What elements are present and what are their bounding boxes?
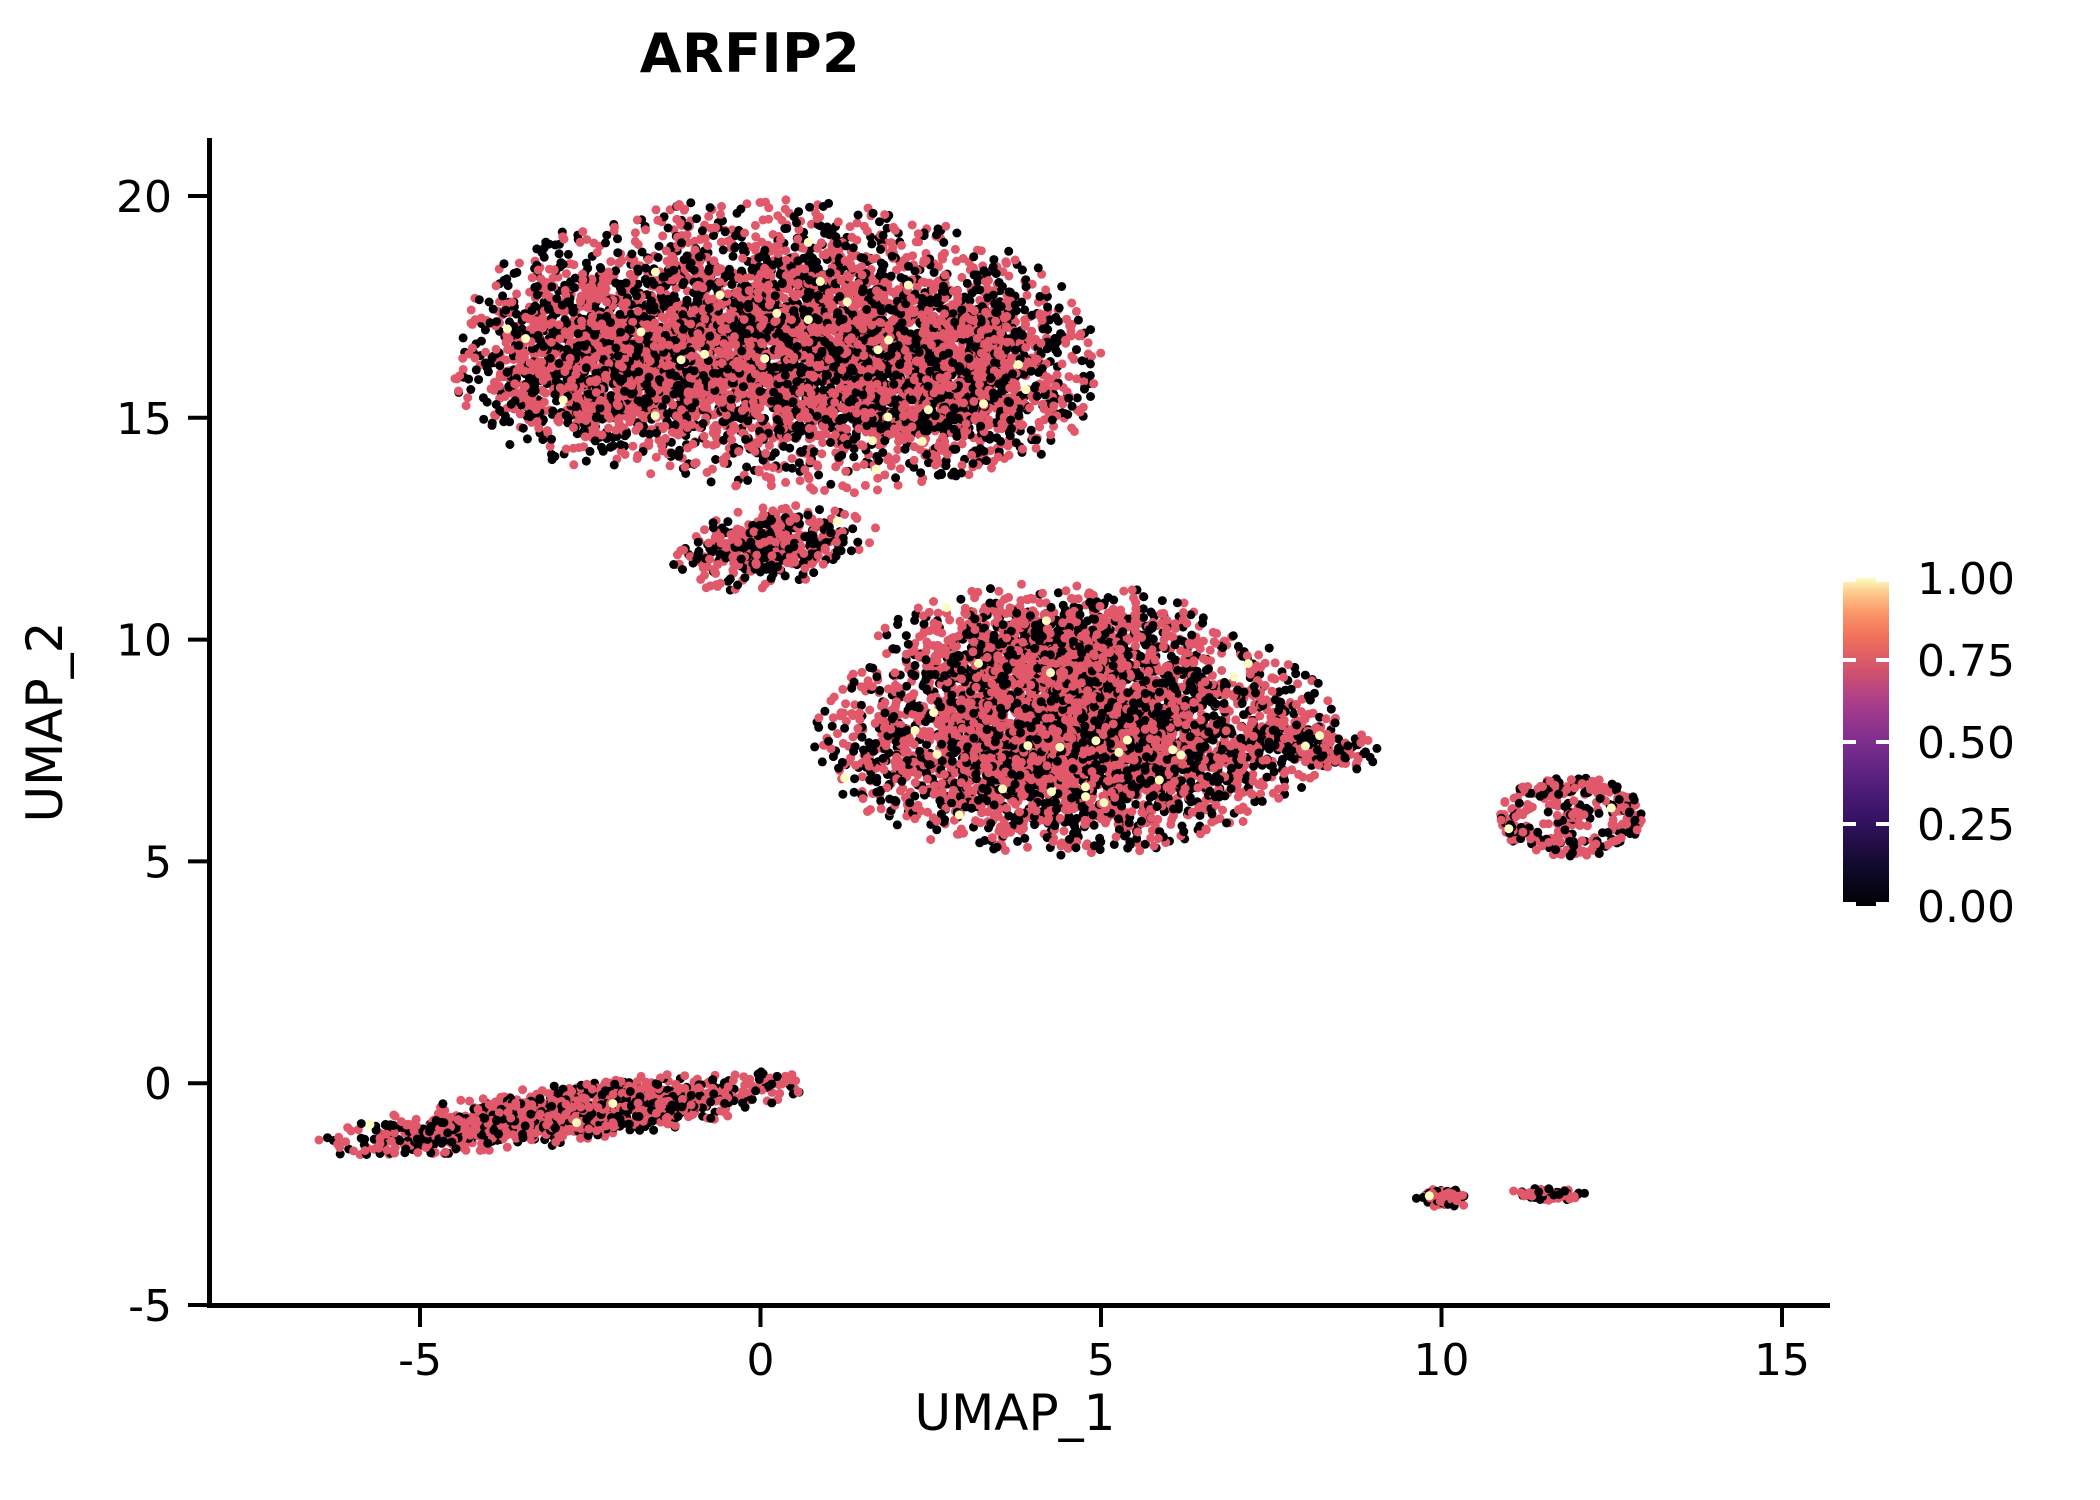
scatter-point xyxy=(858,271,867,280)
scatter-point xyxy=(754,465,763,474)
scatter-point xyxy=(878,448,887,457)
scatter-point xyxy=(699,419,708,428)
scatter-point xyxy=(805,203,814,212)
scatter-point xyxy=(704,212,713,221)
scatter-point xyxy=(700,432,709,441)
scatter-point xyxy=(761,198,770,207)
scatter-point xyxy=(523,434,532,443)
scatter-point xyxy=(754,439,763,448)
scatter-point xyxy=(1011,256,1020,265)
scatter-point xyxy=(479,415,488,424)
scatter-point xyxy=(793,431,802,440)
scatter-point xyxy=(471,315,480,324)
scatter-point xyxy=(740,315,749,324)
scatter-point xyxy=(796,362,805,371)
scatter-point xyxy=(719,246,728,255)
scatter-point xyxy=(606,443,615,452)
scatter-point xyxy=(662,246,671,255)
scatter-point xyxy=(796,476,805,485)
scatter-point xyxy=(776,235,785,244)
scatter-point xyxy=(700,398,709,407)
scatter-point xyxy=(690,306,699,315)
scatter-point xyxy=(492,281,501,290)
scatter-point xyxy=(653,216,662,225)
scatter-point xyxy=(751,242,760,251)
scatter-point xyxy=(606,257,615,266)
scatter-point xyxy=(734,447,743,456)
scatter-point xyxy=(911,267,920,276)
scatter-point xyxy=(743,476,752,485)
scatter-point xyxy=(654,253,663,262)
scatter-point xyxy=(789,353,798,362)
scatter-point xyxy=(680,205,689,214)
scatter-point xyxy=(811,396,820,405)
scatter-point xyxy=(723,237,732,246)
scatter-point xyxy=(725,266,734,275)
scatter-point xyxy=(678,310,687,319)
scatter-point xyxy=(817,449,826,458)
scatter-point xyxy=(780,294,789,303)
scatter-point xyxy=(888,252,897,261)
scatter-point xyxy=(1002,259,1011,268)
scatter-point xyxy=(723,365,732,374)
scatter-point xyxy=(831,462,840,471)
scatter-point xyxy=(827,300,836,309)
scatter-point xyxy=(879,231,888,240)
scatter-point xyxy=(467,306,476,315)
scatter-point xyxy=(641,225,650,234)
scatter-point xyxy=(668,428,677,437)
scatter-point xyxy=(734,287,743,296)
scatter-point xyxy=(716,210,725,219)
scatter-point xyxy=(837,276,846,285)
scatter-point xyxy=(737,324,746,333)
scatter-point xyxy=(860,460,869,469)
scatter-point xyxy=(722,312,731,321)
scatter-point xyxy=(902,253,911,262)
scatter-point xyxy=(799,254,808,263)
scatter-point xyxy=(631,228,640,237)
scatter-point xyxy=(813,214,822,223)
scatter-point xyxy=(759,215,768,224)
scatter-point xyxy=(614,258,623,267)
scatter-point xyxy=(820,229,829,238)
scatter-point xyxy=(641,264,650,273)
scatter-point xyxy=(602,231,611,240)
scatter-point xyxy=(601,238,610,247)
scatter-point xyxy=(754,294,763,303)
scatter-point xyxy=(842,483,851,492)
scatter-point xyxy=(459,333,468,342)
scatter-point xyxy=(677,238,686,247)
scatter-point xyxy=(872,286,881,295)
scatter-point xyxy=(891,473,900,482)
scatter-point xyxy=(692,214,701,223)
scatter-point xyxy=(711,223,720,232)
scatter-point xyxy=(730,243,739,252)
scatter-point xyxy=(481,326,490,335)
scatter-point xyxy=(683,298,692,307)
scatter-point xyxy=(699,371,708,380)
scatter-point xyxy=(751,221,760,230)
scatter-point xyxy=(934,224,943,233)
scatter-point xyxy=(847,284,856,293)
scatter-point xyxy=(569,308,578,317)
scatter-point xyxy=(969,252,978,261)
scatter-point xyxy=(734,363,743,372)
scatter-point xyxy=(709,256,718,265)
scatter-point xyxy=(741,435,750,444)
scatter-point xyxy=(463,393,472,402)
scatter-point xyxy=(813,412,822,421)
scatter-point xyxy=(814,291,823,300)
scatter-point xyxy=(694,281,703,290)
scatter-point xyxy=(734,273,743,282)
scatter-point xyxy=(578,227,587,236)
scatter-point xyxy=(534,266,543,275)
scatter-point xyxy=(472,365,481,374)
scatter-point xyxy=(805,424,814,433)
scatter-point xyxy=(613,248,622,257)
scatter-point xyxy=(782,256,791,265)
scatter-point xyxy=(779,442,788,451)
scatter-point xyxy=(788,289,797,298)
scatter-point xyxy=(736,205,745,214)
scatter-point xyxy=(736,301,745,310)
scatter-point xyxy=(727,435,736,444)
scatter-point xyxy=(852,462,861,471)
scatter-point xyxy=(564,250,573,259)
scatter-point xyxy=(835,292,844,301)
scatter-point xyxy=(803,384,812,393)
scatter-point xyxy=(673,381,682,390)
scatter-point xyxy=(952,229,961,238)
scatter-point xyxy=(678,280,687,289)
scatter-point xyxy=(550,265,559,274)
scatter-point xyxy=(771,363,780,372)
scatter-point xyxy=(977,246,986,255)
scatter-point xyxy=(751,370,760,379)
scatter-point xyxy=(628,442,637,451)
scatter-point xyxy=(532,405,541,414)
scatter-point xyxy=(686,320,695,329)
scatter-point xyxy=(1004,247,1013,256)
scatter-point xyxy=(821,415,830,424)
scatter-point xyxy=(500,259,509,268)
scatter-point xyxy=(813,244,822,253)
scatter-point xyxy=(809,486,818,495)
scatter-point xyxy=(705,304,714,313)
scatter-point xyxy=(805,338,814,347)
scatter-point xyxy=(800,264,809,273)
scatter-point xyxy=(593,248,602,257)
scatter-point xyxy=(1057,282,1066,291)
scatter-point xyxy=(952,257,961,266)
scatter-point xyxy=(647,277,656,286)
scatter-point xyxy=(759,376,768,385)
scatter-point xyxy=(781,371,790,380)
scatter-point xyxy=(634,240,643,249)
scatter-point xyxy=(868,254,877,263)
scatter-point xyxy=(773,404,782,413)
scatter-point xyxy=(691,412,700,421)
scatter-point xyxy=(702,440,711,449)
scatter-point xyxy=(731,340,740,349)
plot-canvas: -5051015 20151050-5 UMAP_1 UMAP_2 1.000.… xyxy=(0,0,2100,1500)
scatter-point xyxy=(722,452,731,461)
scatter-point xyxy=(789,397,798,406)
scatter-point xyxy=(841,241,850,250)
scatter-point xyxy=(891,226,900,235)
scatter-point xyxy=(849,452,858,461)
scatter-point xyxy=(683,251,692,260)
scatter-point xyxy=(771,291,780,300)
scatter-point xyxy=(708,465,717,474)
scatter-point xyxy=(740,229,749,238)
scatter-point xyxy=(914,229,923,238)
scatter-point xyxy=(633,265,642,274)
scatter-point xyxy=(718,386,727,395)
scatter-point xyxy=(812,361,821,370)
scatter-point xyxy=(729,252,738,261)
scatter-point xyxy=(669,390,678,399)
scatter-point xyxy=(709,429,718,438)
scatter-point xyxy=(582,235,591,244)
scatter-point xyxy=(676,219,685,228)
scatter-point xyxy=(662,395,671,404)
scatter-point xyxy=(727,395,736,404)
scatter-point xyxy=(813,431,822,440)
scatter-point xyxy=(559,235,568,244)
scatter-point xyxy=(876,245,885,254)
scatter-point xyxy=(545,240,554,249)
scatter-point xyxy=(814,315,823,324)
scatter-point xyxy=(505,440,514,449)
scatter-point xyxy=(896,464,905,473)
umap-feature-plot-figure: ARFIP2 -5051015 20151050 xyxy=(0,0,2100,1500)
scatter-point xyxy=(704,267,713,276)
scatter-point xyxy=(700,314,709,323)
scatter-point xyxy=(843,440,852,449)
scatter-point xyxy=(865,365,874,374)
scatter-point xyxy=(757,339,766,348)
scatter-point xyxy=(813,462,822,471)
scatter-point xyxy=(791,243,800,252)
scatter-point xyxy=(514,341,523,350)
scatter-point xyxy=(717,202,726,211)
scatter-point xyxy=(805,276,814,285)
scatter-point xyxy=(767,397,776,406)
scatter-point xyxy=(727,280,736,289)
scatter-point xyxy=(789,306,798,315)
scatter-point xyxy=(787,315,796,324)
scatter-point xyxy=(739,382,748,391)
scatter-point xyxy=(861,481,870,490)
scatter-point xyxy=(610,461,619,470)
scatter-point xyxy=(951,245,960,254)
scatter-point xyxy=(887,272,896,281)
scatter-point xyxy=(869,209,878,218)
scatter-point xyxy=(708,380,717,389)
scatter-point xyxy=(743,416,752,425)
scatter-point xyxy=(681,463,690,472)
scatter-point xyxy=(690,459,699,468)
scatter-point xyxy=(774,249,783,258)
scatter-point xyxy=(626,270,635,279)
scatter-point xyxy=(657,293,666,302)
scatter-point xyxy=(820,337,829,346)
scatter-point xyxy=(826,268,835,277)
scatter-point xyxy=(731,231,740,240)
scatter-point xyxy=(731,425,740,434)
scatter-point xyxy=(698,226,707,235)
scatter-point xyxy=(814,352,823,361)
scatter-point xyxy=(874,456,883,465)
scatter-point xyxy=(793,342,802,351)
scatter-point xyxy=(705,332,714,341)
scatter-point xyxy=(512,310,521,319)
scatter-point xyxy=(761,449,770,458)
scatter-point xyxy=(756,269,765,278)
scatter-point xyxy=(808,327,817,336)
scatter-point xyxy=(693,295,702,304)
scatter-point xyxy=(781,195,790,204)
scatter-point xyxy=(621,450,630,459)
scatter-point xyxy=(783,379,792,388)
scatter-point xyxy=(688,440,697,449)
scatter-point xyxy=(610,223,619,232)
scatter-point xyxy=(934,471,943,480)
scatter-point xyxy=(841,256,850,265)
scatter-point xyxy=(632,291,641,300)
scatter-point xyxy=(841,467,850,476)
scatter-point xyxy=(707,477,716,486)
scatter-point xyxy=(762,472,771,481)
scatter-point xyxy=(658,231,667,240)
scatter-point xyxy=(666,461,675,470)
scatter-point xyxy=(774,425,783,434)
scatter-point xyxy=(613,234,622,243)
scatter-point xyxy=(826,438,835,447)
scatter-point xyxy=(819,202,828,211)
scatter-point xyxy=(794,279,803,288)
scatter-point xyxy=(820,486,829,495)
scatter-point xyxy=(850,488,859,497)
scatter-point xyxy=(555,249,564,258)
scatter-point xyxy=(761,253,770,262)
scatter-point xyxy=(721,227,730,236)
scatter-point xyxy=(774,348,783,357)
scatter-point xyxy=(744,303,753,312)
scatter-point xyxy=(695,252,704,261)
scatter-point xyxy=(888,287,897,296)
scatter-point xyxy=(823,371,832,380)
scatter-point xyxy=(804,472,813,481)
scatter-point xyxy=(795,388,804,397)
scatter-point xyxy=(799,305,808,314)
scatter-point xyxy=(792,423,801,432)
scatter-point xyxy=(858,287,867,296)
scatter-point xyxy=(931,461,940,470)
scatter-point xyxy=(745,286,754,295)
scatter-point xyxy=(824,355,833,364)
scatter-point xyxy=(756,322,765,331)
scatter-point xyxy=(852,236,861,245)
scatter-point xyxy=(667,449,676,458)
scatter-point xyxy=(790,212,799,221)
scatter-point xyxy=(586,447,595,456)
scatter-point xyxy=(939,238,948,247)
scatter-point xyxy=(848,264,857,273)
scatter-point xyxy=(540,398,549,407)
scatter-point xyxy=(1067,299,1076,308)
scatter-point xyxy=(1087,352,1096,361)
scatter-point xyxy=(922,256,931,265)
scatter-point xyxy=(764,281,773,290)
scatter-point xyxy=(627,250,636,259)
scatter-point xyxy=(930,268,939,277)
scatter-point xyxy=(706,203,715,212)
scatter-point xyxy=(732,481,741,490)
scatter-point xyxy=(819,386,828,395)
scatter-point xyxy=(873,486,882,495)
scatter-point xyxy=(828,388,837,397)
scatter-point xyxy=(690,266,699,275)
scatter-point xyxy=(788,454,797,463)
scatter-point xyxy=(709,369,718,378)
scatter-point xyxy=(814,471,823,480)
scatter-point xyxy=(1004,272,1013,281)
scatter-point xyxy=(719,436,728,445)
scatter-point xyxy=(765,301,774,310)
scatter-point xyxy=(512,289,521,298)
scatter-point xyxy=(808,254,817,263)
scatter-points-layer xyxy=(315,195,1646,1210)
scatter-point xyxy=(1058,359,1067,368)
scatter-point xyxy=(778,216,787,225)
scatter-point xyxy=(782,224,791,233)
scatter-point xyxy=(646,469,655,478)
scatter-point xyxy=(1096,349,1105,358)
scatter-point xyxy=(633,216,642,225)
scatter-point xyxy=(774,328,783,337)
scatter-point xyxy=(839,315,848,324)
scatter-point xyxy=(773,415,782,424)
scatter-point xyxy=(834,453,843,462)
scatter-point xyxy=(897,241,906,250)
scatter-point xyxy=(938,251,947,260)
scatter-point xyxy=(854,211,863,220)
scatter-point xyxy=(880,210,889,219)
scatter-point xyxy=(783,433,792,442)
scatter-point xyxy=(781,478,790,487)
scatter-point xyxy=(687,403,696,412)
scatter-point xyxy=(1084,338,1093,347)
scatter-point xyxy=(825,324,834,333)
scatter-point xyxy=(908,221,917,230)
scatter-point xyxy=(723,289,732,298)
scatter-point xyxy=(755,387,764,396)
scatter-point xyxy=(738,254,747,263)
scatter-point xyxy=(664,224,673,233)
scatter-point xyxy=(746,390,755,399)
scatter-point xyxy=(1055,303,1064,312)
scatter-point xyxy=(652,205,661,214)
scatter-point xyxy=(831,430,840,439)
scatter-point xyxy=(793,235,802,244)
scatter-point xyxy=(751,409,760,418)
scatter-point xyxy=(798,447,807,456)
